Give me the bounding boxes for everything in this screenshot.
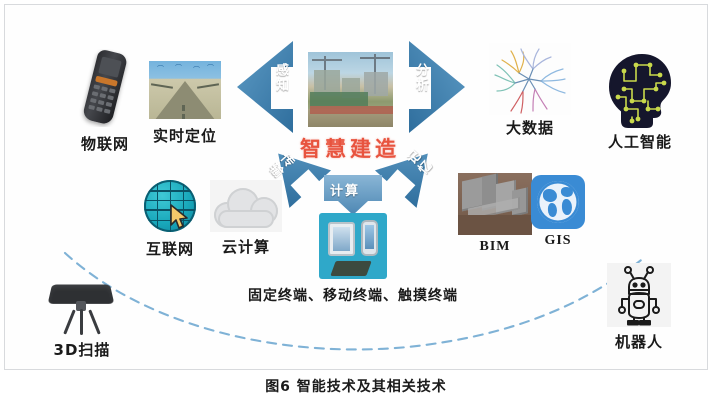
laser-scanner-icon [42,277,122,335]
node-bigdata[interactable]: 大数据 [475,43,585,138]
arrow-label-perception: 感知 [271,63,290,93]
road-navigation-icon: ⌒ ⌒ ⌒ ⌒ [149,61,221,119]
node-label-scan3d: 3D扫描 [27,339,137,360]
figure-frame: 感知 分析 传输 记忆 计算 智慧建造 物联网 [4,4,708,370]
node-scan3d[interactable]: 3D扫描 [27,277,137,360]
node-gis[interactable]: GIS [520,175,596,249]
node-label-bigdata: 大数据 [475,117,585,138]
arrow-label-analysis: 分析 [411,63,430,93]
construction-site-photo [306,50,395,129]
node-label-gis: GIS [520,233,596,249]
node-label-rtls: 实时定位 [135,125,235,146]
handheld-terminal-icon [79,49,131,127]
node-robot[interactable]: 机器人 [591,263,687,352]
devices-icon [319,213,387,279]
robot-icon [607,263,671,327]
node-ai[interactable]: 人工智能 [585,51,695,152]
node-rtls[interactable]: ⌒ ⌒ ⌒ ⌒ 实时定位 [135,61,235,146]
node-label-robot: 机器人 [591,331,687,352]
arrow-label-computation: 计算 [330,180,360,199]
center-title: 智慧建造 [260,133,440,163]
figure-caption: 图6 智能技术及其相关技术 [0,376,712,396]
neural-tree-icon [489,43,571,115]
circuit-head-icon [602,51,678,129]
globe-cursor-icon [144,180,196,232]
node-label-ai: 人工智能 [585,131,695,152]
node-label-terminals: 固定终端、移动终端、触摸终端 [210,285,496,305]
blue-globe-icon [531,175,585,229]
